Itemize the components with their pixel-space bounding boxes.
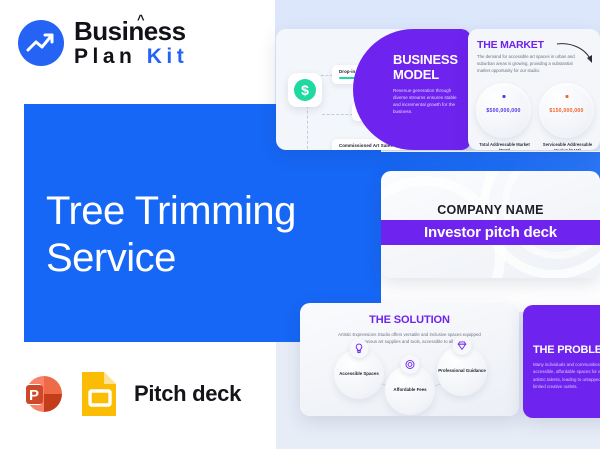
slide-card-problem[interactable]: THE PROBLEM Many individuals and communi… (523, 305, 600, 418)
dollar-sign-icon: $ (288, 73, 322, 107)
brand-logo: Business ^ Plan Kit (18, 18, 188, 67)
chart-arrow-up-icon (18, 20, 64, 66)
page-title: Tree Trimming Service (46, 188, 366, 282)
business-model-body: Revenue generation through diverse strea… (393, 87, 465, 115)
solution-title: THE SOLUTION (300, 314, 519, 326)
brand-accent-caret: ^ (137, 13, 144, 26)
slide-card-market[interactable]: THE MARKET The demand for accessible art… (468, 29, 600, 150)
company-name-heading: COMPANY NAME (381, 203, 600, 217)
solution-node-label: Affordable Fees (393, 387, 426, 393)
powerpoint-icon: P (18, 370, 66, 418)
brand-kit-text: Kit (147, 45, 189, 68)
lightbulb-icon (350, 339, 369, 358)
market-metrics: $500,000,000 Total Addressable Market (T… (476, 83, 596, 150)
solution-node-label: Professional Guidance (438, 368, 486, 374)
slide-card-business-model[interactable]: $ Drop-in Fees Session Workshops Commiss… (276, 29, 471, 150)
market-metric[interactable]: $500,000,000 Total Addressable Market (T… (476, 83, 533, 150)
market-metric-caption: Total Addressable Market (TAM) (476, 142, 533, 150)
brand-name-line1: Business ^ (74, 18, 188, 44)
solution-node[interactable]: Professional Guidance (437, 346, 487, 396)
market-title: THE MARKET (477, 39, 544, 51)
business-model-item-label: Commissioned Art Sales (339, 143, 393, 148)
business-model-title: BUSINESS MODEL (393, 53, 465, 82)
google-slides-icon (78, 370, 122, 418)
connector-middle (322, 114, 353, 115)
svg-text:P: P (29, 387, 39, 404)
market-metric-caption: Serviceable Addressable Market (SAM) (539, 142, 596, 150)
problem-title: THE PROBLEM (533, 344, 600, 356)
brand-name-line2: Plan Kit (74, 46, 188, 67)
poster-canvas: Business ^ Plan Kit Tree Trimming Servic… (0, 0, 600, 449)
solution-node[interactable]: Accessible Spaces (334, 349, 384, 399)
target-icon (401, 355, 420, 374)
solution-node-label: Accessible Spaces (339, 371, 379, 377)
format-footer-label: Pitch deck (134, 381, 241, 407)
investor-pitch-label: Investor pitch deck (424, 224, 557, 241)
market-metric[interactable]: $150,000,000 Serviceable Addressable Mar… (539, 83, 596, 150)
format-footer: P Pitch deck (18, 370, 241, 418)
problem-body: Many individuals and communities lack ac… (533, 361, 600, 391)
market-metric-value: $150,000,000 (549, 108, 583, 114)
solution-node[interactable]: Affordable Fees (385, 365, 435, 415)
investor-pitch-band: Investor pitch deck (381, 220, 600, 245)
brand-business-text: Business (74, 16, 186, 46)
slide-card-solution[interactable]: THE SOLUTION Artistic Expressions Studio… (300, 303, 519, 416)
slide-card-company-name[interactable]: COMPANY NAME Investor pitch deck (381, 171, 600, 278)
brand-plan-text: Plan (74, 45, 136, 68)
diamond-icon (453, 336, 472, 355)
business-model-purple-panel: BUSINESS MODEL Revenue generation throug… (353, 29, 471, 150)
market-metric-value: $500,000,000 (486, 108, 520, 114)
market-body: The demand for accessible art spaces in … (477, 54, 582, 75)
